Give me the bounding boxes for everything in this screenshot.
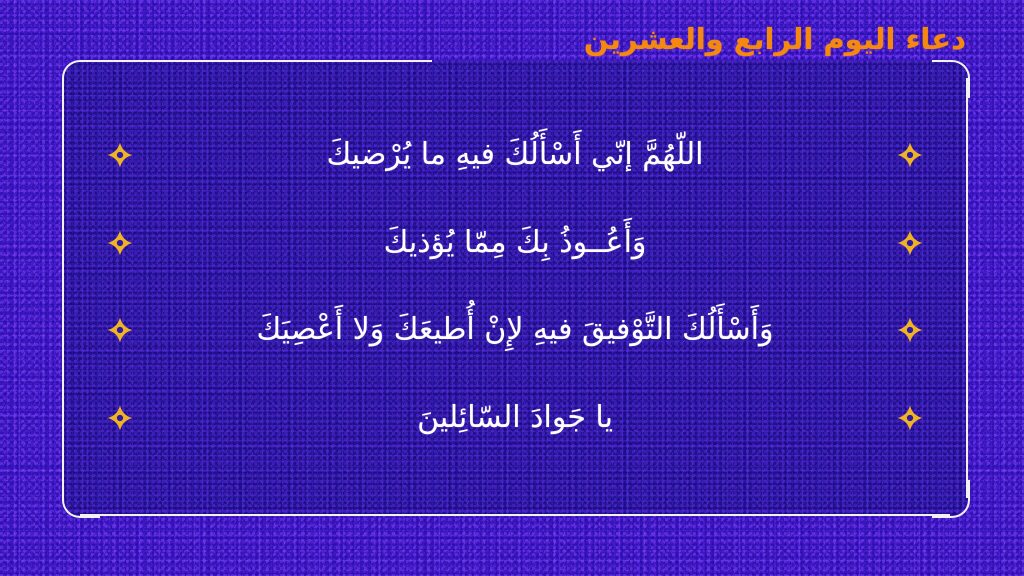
- ornament-slot-left: [852, 230, 968, 256]
- ornament-slot-left: [852, 317, 968, 343]
- dua-line-text: وَأَعُــوذُ بِكَ مِمّا يُؤذيكَ: [178, 223, 852, 264]
- dua-card: دعاء اليوم الرابع والعشرين اللّهُمَّ إنّ…: [0, 0, 1024, 576]
- dua-line-text: وَأَسْأَلُكَ التَّوْفيقَ فيهِ لإِنْ أُطي…: [178, 310, 852, 351]
- dua-line-row: وَأَعُــوذُ بِكَ مِمّا يُؤذيكَ: [62, 199, 968, 287]
- page-title: دعاء اليوم الرابع والعشرين: [584, 22, 966, 56]
- ornament-slot-right: [62, 230, 178, 256]
- diamond-star-ornament-icon: [897, 142, 923, 168]
- diamond-star-ornament-icon: [107, 317, 133, 343]
- diamond-star-ornament-icon: [107, 405, 133, 431]
- dua-line-row: وَأَسْأَلُكَ التَّوْفيقَ فيهِ لإِنْ أُطي…: [62, 286, 968, 374]
- diamond-star-ornament-icon: [897, 230, 923, 256]
- ornament-slot-right: [62, 317, 178, 343]
- ornament-slot-left: [852, 405, 968, 431]
- ornament-slot-left: [852, 142, 968, 168]
- ornament-slot-right: [62, 405, 178, 431]
- dua-line-text: اللّهُمَّ إنّي أَسْأَلُكَ فيهِ ما يُرْضي…: [178, 135, 852, 176]
- diamond-star-ornament-icon: [897, 317, 923, 343]
- dua-line-text: يا جَوادَ السّائِلينَ: [178, 398, 852, 439]
- dua-lines-container: اللّهُمَّ إنّي أَسْأَلُكَ فيهِ ما يُرْضي…: [62, 60, 968, 516]
- diamond-star-ornament-icon: [897, 405, 923, 431]
- dua-line-row: اللّهُمَّ إنّي أَسْأَلُكَ فيهِ ما يُرْضي…: [62, 111, 968, 199]
- diamond-star-ornament-icon: [107, 230, 133, 256]
- ornament-slot-right: [62, 142, 178, 168]
- dua-line-row: يا جَوادَ السّائِلينَ: [62, 374, 968, 462]
- diamond-star-ornament-icon: [107, 142, 133, 168]
